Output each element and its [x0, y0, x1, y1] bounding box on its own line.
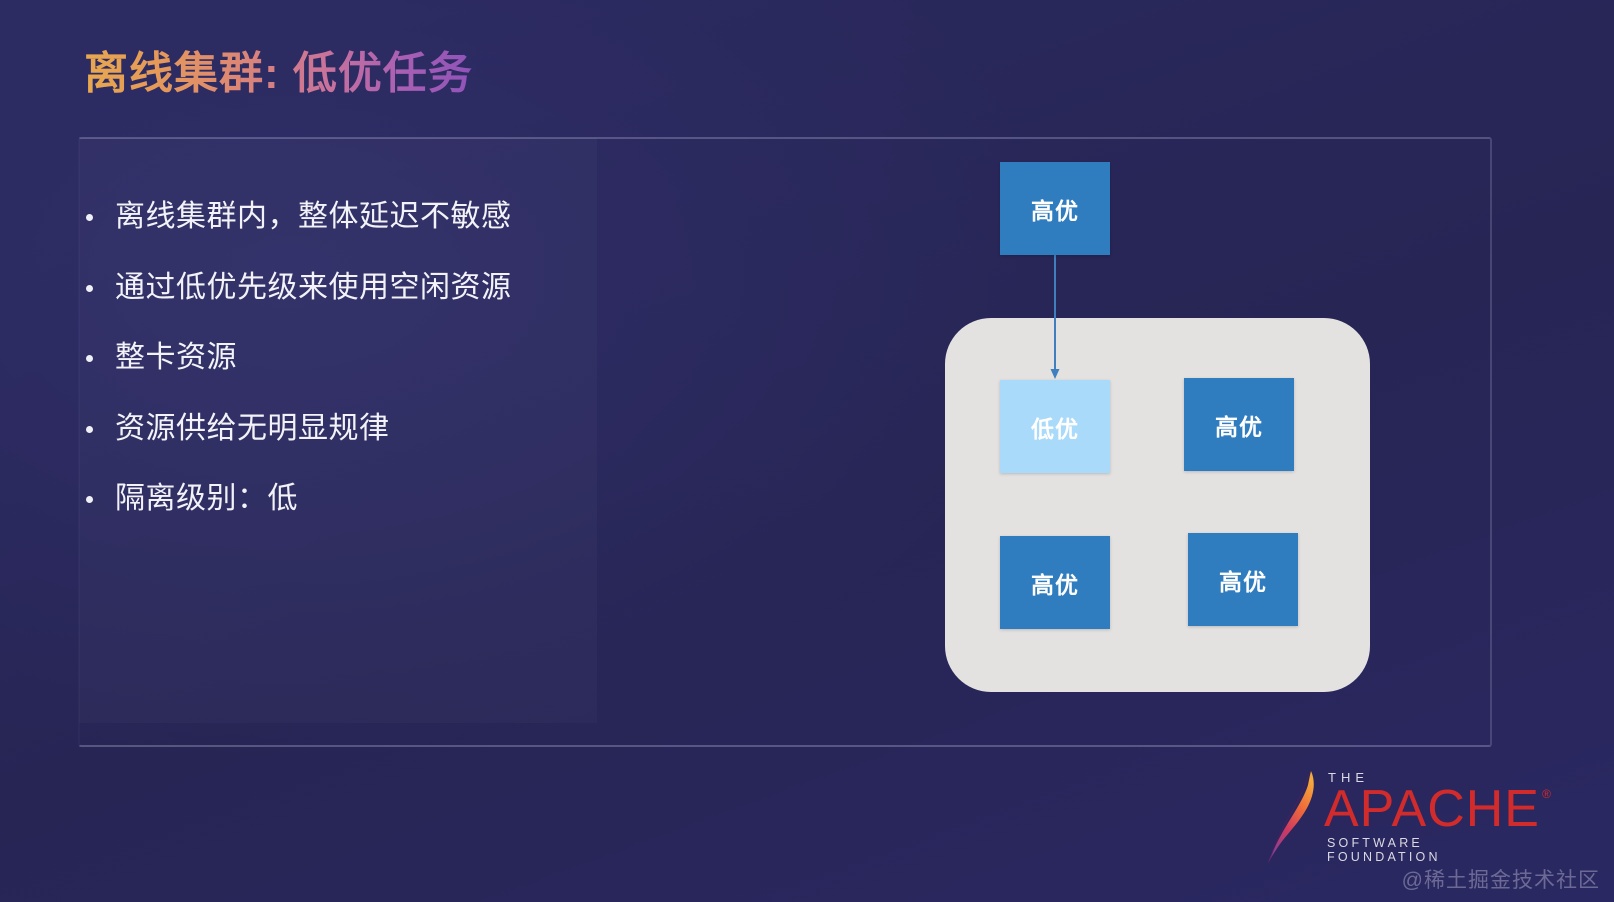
logo-foundation-label: SOFTWARE FOUNDATION	[1327, 836, 1514, 864]
list-item: 资源供给无明显规律	[86, 408, 606, 451]
registered-trademark-icon: ®	[1542, 789, 1552, 800]
bullet-dot-icon	[86, 285, 93, 292]
node-high-priority-top: 高优	[1000, 162, 1110, 255]
bullet-dot-icon	[86, 214, 93, 221]
list-item: 通过低优先级来使用空闲资源	[86, 267, 606, 310]
node-high-priority-bottom-left: 高优	[1000, 536, 1110, 629]
node-label: 高优	[1219, 563, 1267, 597]
bullet-list: 离线集群内，整体延迟不敏感 通过低优先级来使用空闲资源 整卡资源 资源供给无明显…	[86, 196, 606, 549]
node-high-priority-bottom-right: 高优	[1188, 533, 1298, 626]
list-item: 离线集群内，整体延迟不敏感	[86, 196, 606, 239]
node-label: 高优	[1215, 408, 1263, 442]
logo-apache-label: APACHE®	[1324, 785, 1540, 834]
bullet-dot-icon	[86, 496, 93, 503]
watermark: @稀土掘金技术社区	[1402, 864, 1600, 894]
apache-feather-icon	[1262, 768, 1324, 864]
bullet-text: 通过低优先级来使用空闲资源	[115, 267, 512, 310]
node-label: 低优	[1031, 410, 1079, 444]
node-low-priority: 低优	[1000, 380, 1110, 473]
bullet-text: 整卡资源	[115, 337, 237, 380]
apache-logo-text: THE APACHE® SOFTWARE FOUNDATION	[1324, 770, 1514, 864]
node-label: 高优	[1031, 192, 1079, 226]
list-item: 隔离级别：低	[86, 478, 606, 521]
offline-cluster-container	[945, 318, 1370, 692]
bullet-text: 隔离级别：低	[115, 478, 298, 521]
node-high-priority-top-right: 高优	[1184, 378, 1294, 471]
slide-canvas: 离线集群: 低优任务 离线集群内，整体延迟不敏感 通过低优先级来使用空闲资源 整…	[0, 0, 1614, 902]
bullet-dot-icon	[86, 426, 93, 433]
apache-logo: THE APACHE® SOFTWARE FOUNDATION	[1262, 766, 1512, 866]
cluster-diagram: 高优 低优 高优 高优 高优	[600, 138, 1492, 746]
list-item: 整卡资源	[86, 337, 606, 380]
bullet-dot-icon	[86, 355, 93, 362]
bullet-text: 资源供给无明显规律	[115, 408, 390, 451]
node-label: 高优	[1031, 566, 1079, 600]
page-title: 离线集群: 低优任务	[84, 48, 473, 101]
bullet-text: 离线集群内，整体延迟不敏感	[115, 196, 512, 239]
